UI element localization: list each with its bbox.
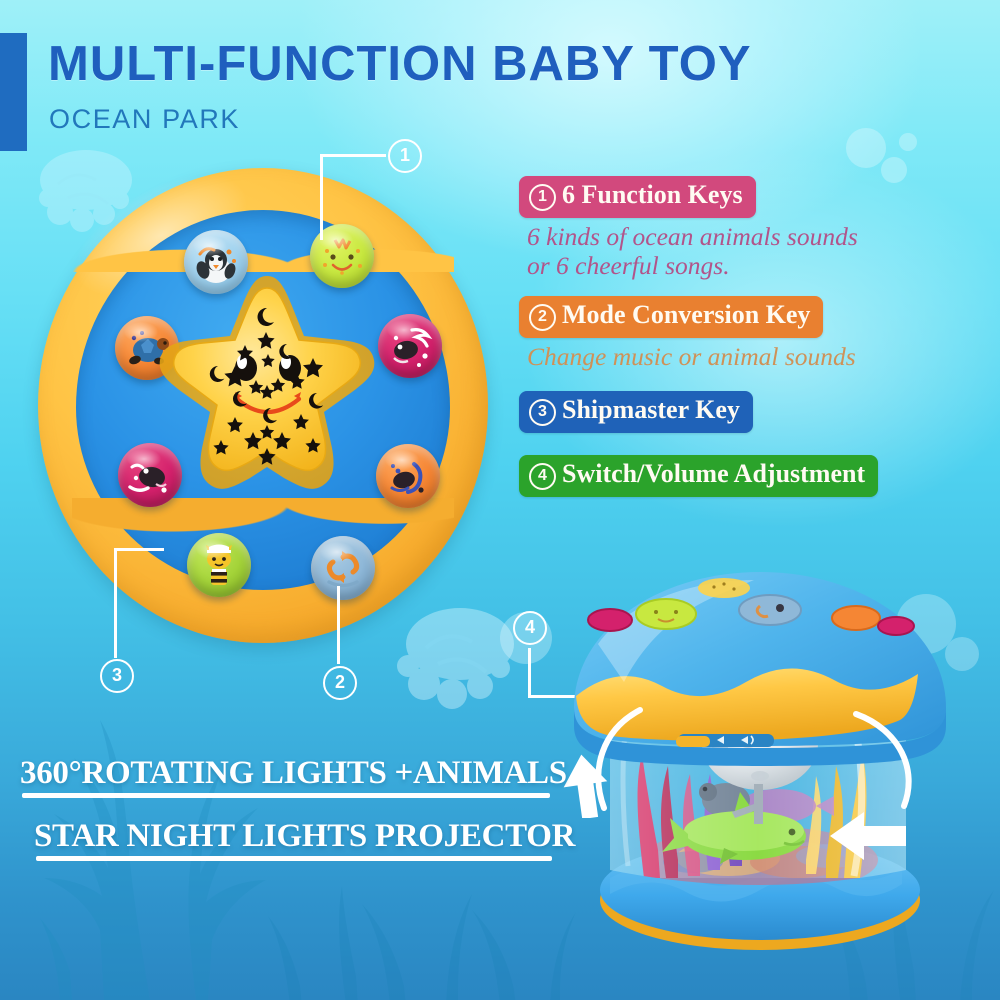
feature-number-1: 1 [529,184,556,211]
callout-1-leader-vertical [320,154,323,240]
page-title: MULTI-FUNCTION BABY TOY [48,36,752,92]
caption-rotating-lights: 360°ROTATING LIGHTS +ANIMALS [20,755,567,792]
shipmaster-key[interactable] [187,533,251,597]
dome-key-mode [739,595,801,625]
rotation-arrow-left [580,700,650,820]
feature-item-2: 2Mode Conversion Key Change music or ani… [519,296,989,372]
button-sheen [320,542,354,562]
volume-slider-knob [676,736,710,747]
feature-description-1: 6 kinds of ocean animals sounds or 6 che… [527,223,989,280]
feature-label-1: 6 Function Keys [562,180,743,209]
header-accent-bar [0,33,27,151]
feature-item-4: 4Switch/Volume Adjustment [519,455,989,497]
callout-marker-1[interactable]: 1 [388,139,422,173]
feature-description-2: Change music or animal sounds [527,343,989,372]
mode-conversion-key[interactable] [311,536,375,600]
dome-key-whale [588,609,632,631]
button-sheen [193,236,227,256]
product-infographic-poster: MULTI-FUNCTION BABY TOY OCEAN PARK 16 Fu… [0,0,1000,1000]
feature-item-1: 16 Function Keys 6 kinds of ocean animal… [519,176,989,280]
feature-number-4: 4 [529,463,556,490]
feature-label-4: Switch/Volume Adjustment [562,459,865,488]
callout-1-leader-horizontal [320,154,386,157]
ocean-park-disc-toy [38,168,488,648]
feature-number-2: 2 [529,304,556,331]
caption-star-projector: STAR NIGHT LIGHTS PROJECTOR [34,818,575,855]
feature-label-3: Shipmaster Key [562,395,740,424]
callout-marker-4[interactable]: 4 [513,611,547,645]
feature-badge-4: 4Switch/Volume Adjustment [519,455,878,497]
caption-rule-2 [36,856,552,861]
button-sheen [196,539,230,559]
callout-marker-3[interactable]: 3 [100,659,134,693]
starfish-center-plate [142,262,392,512]
button-sheen [319,230,353,250]
dome-key-octopus [878,617,914,635]
feature-badge-2: 2Mode Conversion Key [519,296,823,338]
dome-key-seahorse [832,606,880,630]
callout-marker-2[interactable]: 2 [323,666,357,700]
feature-badge-1: 16 Function Keys [519,176,756,218]
feature-badge-3: 3Shipmaster Key [519,391,753,433]
dome-key-crab [636,599,696,629]
callout-2-leader-vertical [337,586,340,664]
callout-4-leader-vertical [528,648,531,698]
page-subtitle: OCEAN PARK [49,104,240,135]
feature-label-2: Mode Conversion Key [562,300,810,329]
callout-3-leader-vertical [114,548,117,658]
feature-list: 16 Function Keys 6 kinds of ocean animal… [519,176,989,501]
rotation-arrow-right [838,700,928,820]
feature-item-3: 3Shipmaster Key [519,391,989,433]
callout-3-leader-horizontal [114,548,164,551]
dome-star-panel [698,578,750,598]
button-sheen [387,320,421,340]
caption-rule-1 [22,793,550,798]
feature-number-3: 3 [529,399,556,426]
